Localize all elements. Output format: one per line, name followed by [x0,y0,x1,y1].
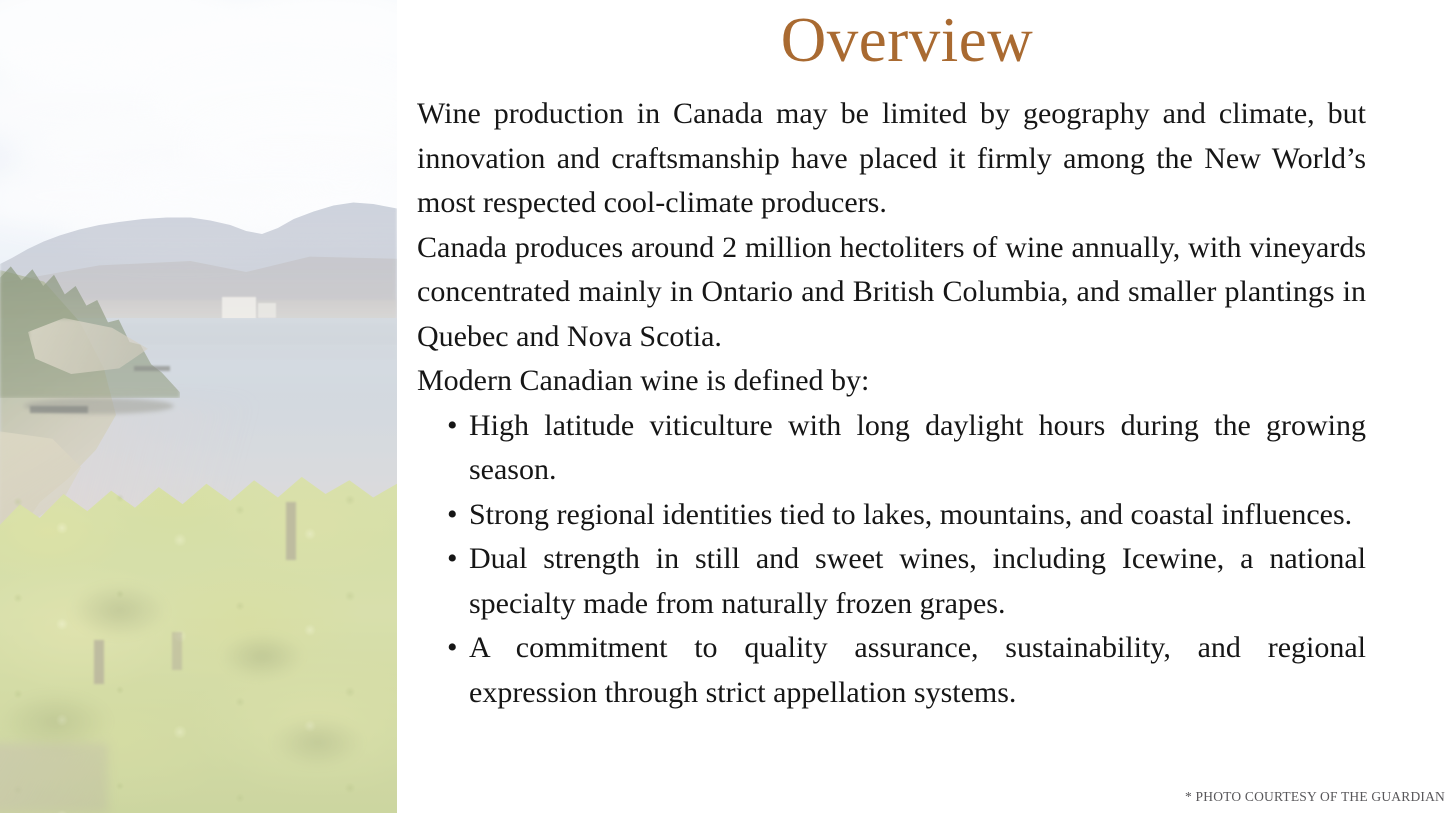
list-item-label: High latitude viticulture with long dayl… [469,404,1366,493]
vine-post [172,632,182,670]
photo-credit: * PHOTO COURTESY OF THE GUARDIAN [405,789,1445,805]
list-item-label: Strong regional identities tied to lakes… [469,493,1366,538]
dock [30,406,88,413]
distant-building [222,297,256,319]
list-item: • Dual strength in still and sweet wines… [417,537,1366,626]
list-item-label: Dual strength in still and sweet wines, … [469,537,1366,626]
bullet-icon: • [447,537,457,582]
list-item: • A commitment to quality assurance, sus… [417,626,1366,715]
defining-traits-list: • High latitude viticulture with long da… [417,404,1366,716]
slide-content: Overview Wine production in Canada may b… [397,0,1445,813]
bullet-icon: • [447,404,457,449]
paragraph-intro: Wine production in Canada may be limited… [417,92,1366,226]
list-item: • High latitude viticulture with long da… [417,404,1366,493]
distant-building [258,303,276,318]
vine-post [94,640,104,684]
okanagan-lake-vineyard-photo [0,0,397,813]
slide-canvas: Overview Wine production in Canada may b… [0,0,1445,813]
body-content: Wine production in Canada may be limited… [417,92,1366,715]
paragraph-defined-by-lead: Modern Canadian wine is defined by: [417,359,1366,404]
bullet-icon: • [447,493,457,538]
list-item: • Strong regional identities tied to lak… [417,493,1366,538]
dock [134,366,170,371]
list-item-label: A commitment to quality assurance, susta… [469,626,1366,715]
paragraph-production: Canada produces around 2 million hectoli… [417,226,1366,360]
page-title: Overview [397,4,1417,76]
soil-patch [0,743,108,813]
bullet-icon: • [447,626,457,671]
vine-post [286,502,296,560]
